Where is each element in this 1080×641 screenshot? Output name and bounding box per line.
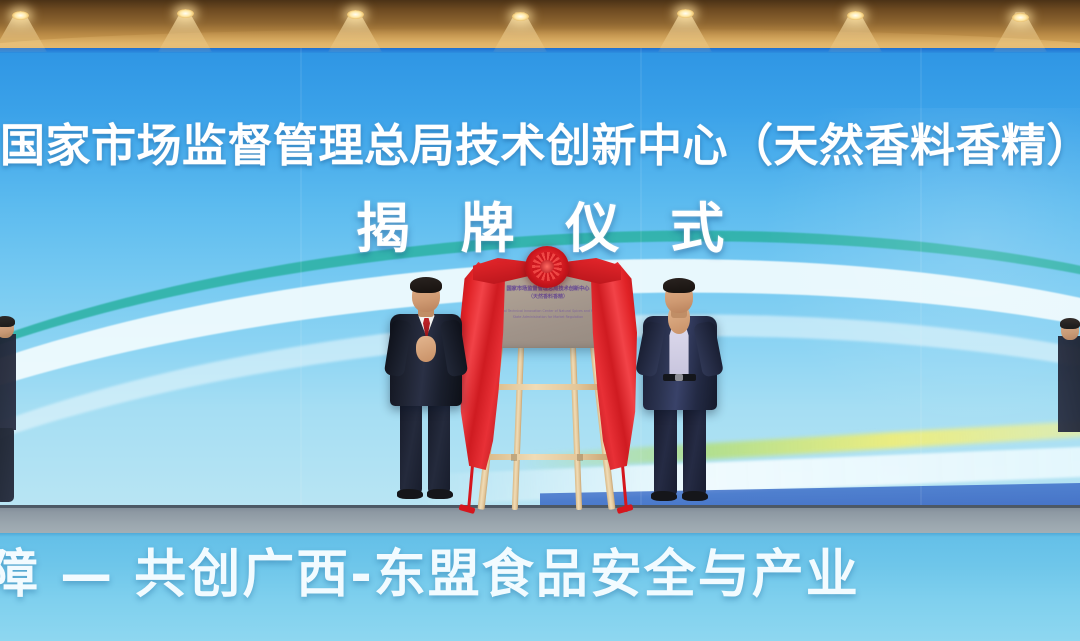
ceiling-spotlight-icon — [847, 11, 864, 20]
easel-joint — [511, 454, 517, 461]
side-figure-right — [1058, 320, 1080, 510]
ceiling-spotlight-icon — [347, 10, 364, 19]
ceiling-spotlight-icon — [677, 9, 694, 18]
spotlight-cone — [158, 12, 212, 52]
trouser-left — [654, 402, 677, 496]
spotlight-cone — [658, 12, 712, 52]
easel-joint — [577, 454, 583, 461]
shoe-left — [651, 491, 677, 501]
shoe-right — [427, 489, 453, 499]
ceiling — [0, 0, 1080, 52]
ceremony-photo: 国家市场监督管理总局技术创新中心（天然香料香精） 揭 牌 仪 式 国家市场监督管… — [0, 0, 1080, 641]
trouser-right — [683, 402, 706, 496]
ceiling-spotlight-icon — [177, 9, 194, 18]
trouser-right — [428, 398, 450, 494]
event-title-line2: 揭 牌 仪 式 — [0, 198, 1080, 260]
shoe-left — [397, 489, 423, 499]
easel-leg — [570, 344, 582, 510]
person-right-official — [630, 282, 728, 510]
screen-panel-seam — [300, 48, 302, 510]
easel-with-plaque: 国家市场监督管理总局技术创新中心 （天然香料香精） National Techn… — [463, 268, 633, 513]
easel-brace — [489, 384, 605, 390]
side-figure-left — [0, 318, 16, 508]
hair — [663, 278, 695, 293]
event-title-line1: 国家市场监督管理总局技术创新中心（天然香料香精） — [0, 120, 1080, 172]
shoe-right — [682, 491, 708, 501]
person-left-official — [378, 280, 474, 508]
hair — [410, 277, 442, 293]
hand-clapping — [416, 336, 436, 362]
ceiling-spotlight-icon — [1012, 13, 1029, 22]
easel-brace — [484, 454, 610, 460]
foreground-banner: 障 — 共创广西-东盟食品安全与产业 — [0, 533, 1080, 641]
trouser-left — [400, 398, 422, 494]
belt-buckle — [675, 374, 683, 381]
easel-leg — [512, 344, 524, 510]
ceiling-spotlight-icon — [12, 11, 29, 20]
ceiling-spotlight-icon — [512, 12, 529, 21]
foreground-banner-text: 障 — 共创广西-东盟食品安全与产业 — [0, 545, 1080, 605]
